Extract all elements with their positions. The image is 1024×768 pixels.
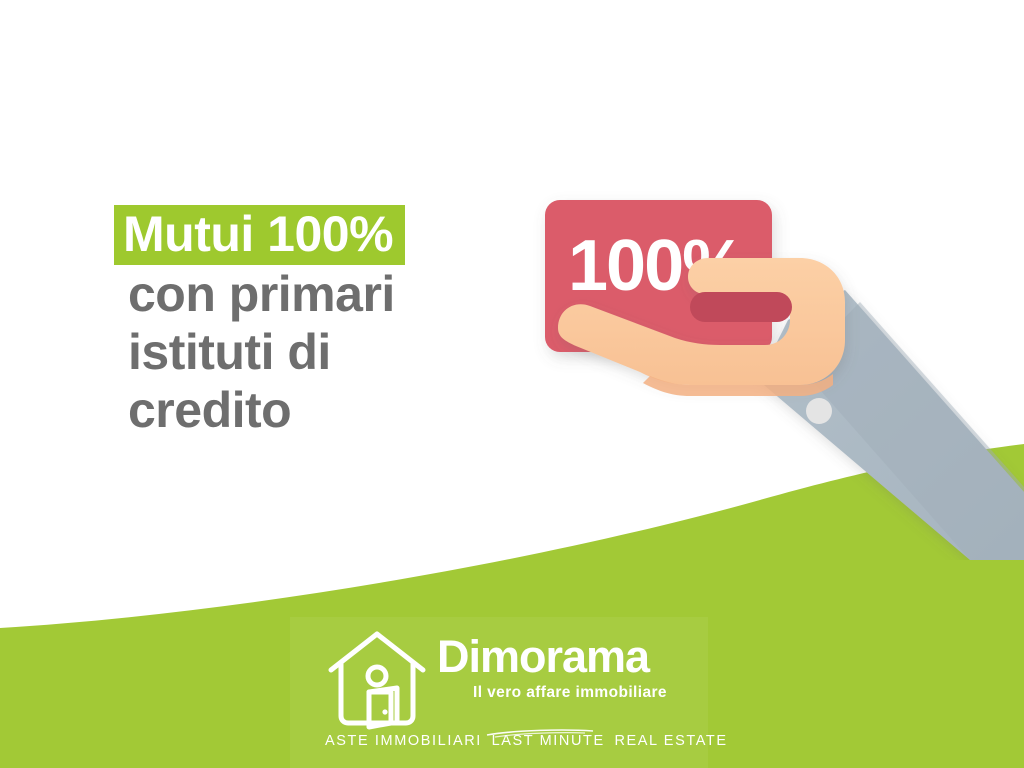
headline-line-highlight: Mutui 100%: [123, 205, 543, 265]
sleeve-button: [806, 398, 832, 424]
hand-holding-badge-illustration: 100%: [500, 180, 1024, 560]
headline-line-1: con primari: [123, 265, 543, 323]
logo-tagline: Il vero affare immobiliare: [437, 683, 705, 703]
logo-subline: ASTE IMMOBILIARI LAST MINUTE REAL ESTATE: [323, 732, 713, 750]
headline-line-2: istituti di: [123, 323, 543, 381]
brand-logo: Dimorama Il vero affare immobiliare ASTE…: [325, 624, 705, 754]
house-icon: [325, 628, 429, 732]
logo-subline-1: ASTE IMMOBILIARI: [323, 733, 484, 749]
finger-groove: [690, 292, 792, 322]
headline-line-3: credito: [123, 381, 543, 439]
logo-wordmark: Dimorama Il vero affare immobiliare: [437, 634, 705, 703]
logo-subline-3: REAL ESTATE: [612, 733, 729, 749]
logo-name: Dimorama: [437, 634, 705, 680]
headline-block: Mutui 100% con primari istituti di credi…: [123, 205, 543, 439]
headline-highlight-text: Mutui 100%: [114, 205, 405, 265]
banner-canvas: Mutui 100% con primari istituti di credi…: [0, 0, 1024, 768]
logo-subline-2: LAST MINUTE: [490, 733, 607, 749]
